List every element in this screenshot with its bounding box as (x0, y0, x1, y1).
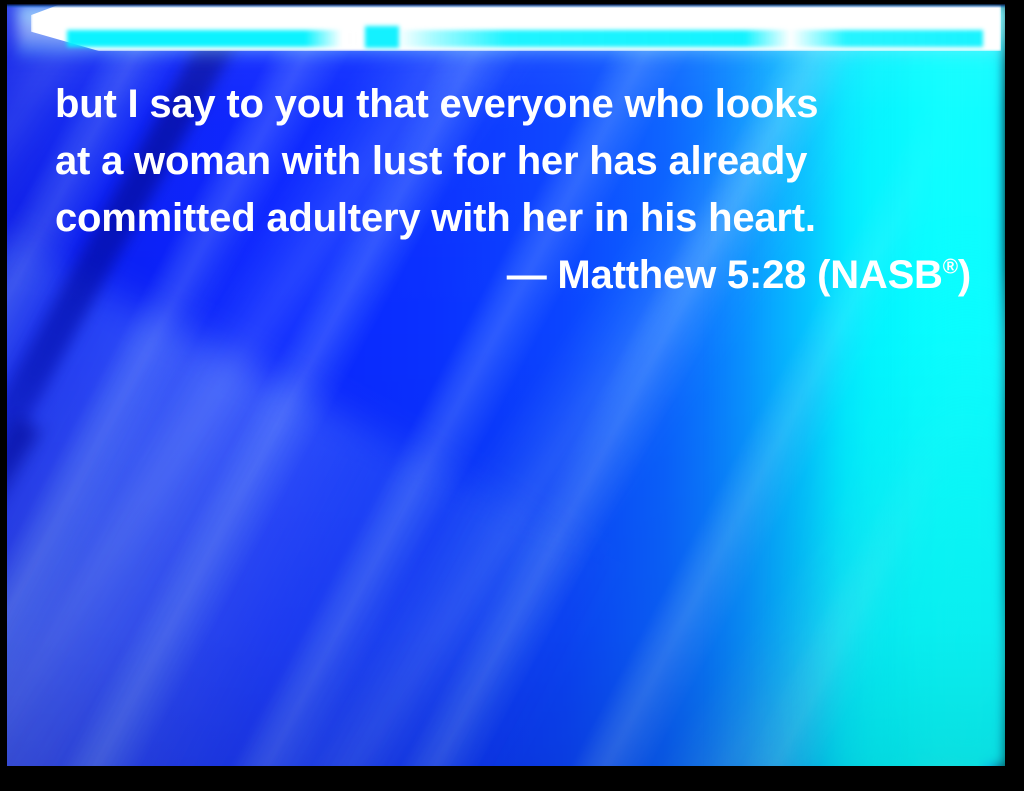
registered-trademark-icon: ® (943, 256, 958, 279)
slide-canvas: but I say to you that everyone who looks… (7, 4, 1005, 766)
verse-line-3: committed adultery with her in his heart… (55, 190, 981, 247)
attribution-suffix: ) (958, 253, 971, 297)
verse-line-1: but I say to you that everyone who looks (55, 76, 981, 133)
verse-line-2: at a woman with lust for her has already (55, 133, 981, 190)
verse-attribution: — Matthew 5:28 (NASB®) (55, 247, 981, 304)
scripture-slide: but I say to you that everyone who looks… (0, 0, 1024, 791)
attribution-prefix: — Matthew 5:28 (NASB (507, 253, 943, 297)
verse-text-block: but I say to you that everyone who looks… (55, 76, 981, 304)
